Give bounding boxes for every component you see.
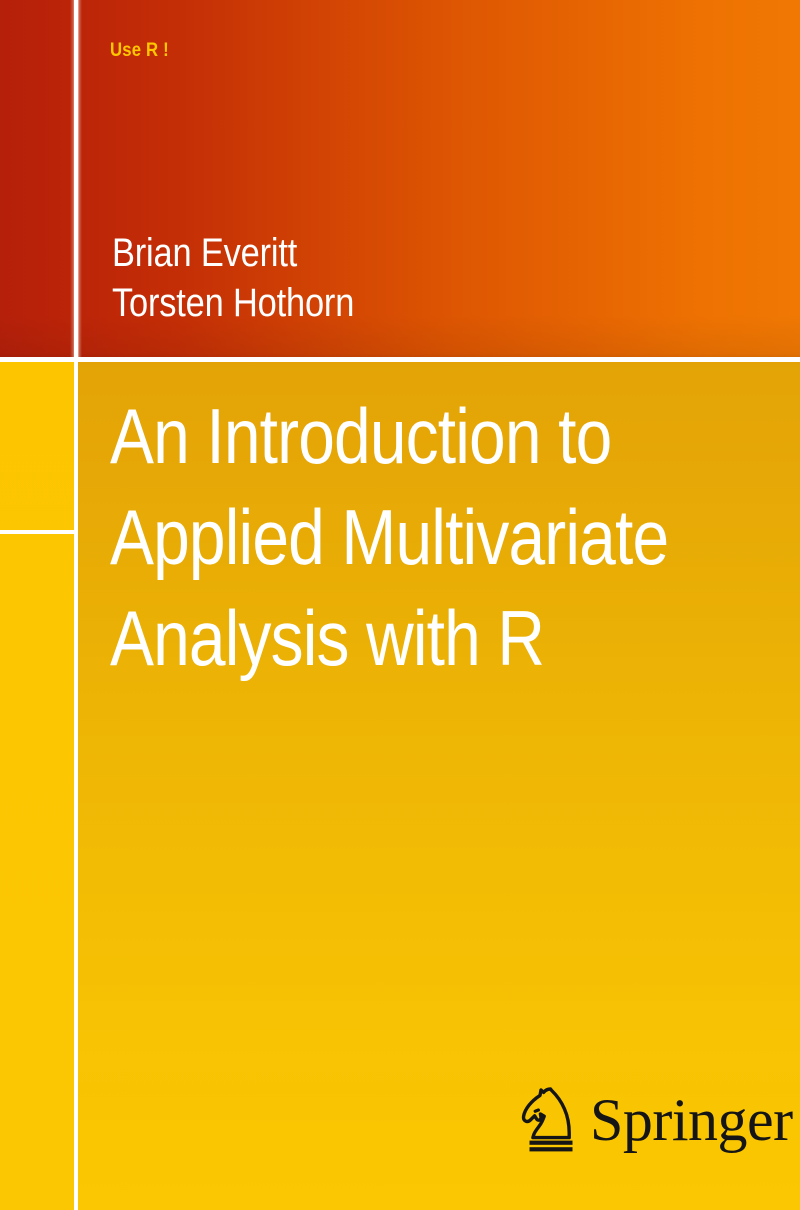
left-strip-divider-rule <box>0 530 74 534</box>
publisher-name: Springer <box>590 1090 793 1150</box>
title-line: Applied Multivariate <box>110 487 693 588</box>
title-line: An Introduction to <box>110 386 693 487</box>
series-label: Use R ! <box>110 40 169 62</box>
author-block: Brian Everitt Torsten Hothorn <box>112 228 752 328</box>
publisher-logo: Springer <box>520 1082 793 1158</box>
author-name: Torsten Hothorn <box>112 278 662 328</box>
author-name: Brian Everitt <box>112 228 662 278</box>
horizontal-divider-rule <box>0 357 800 362</box>
vertical-spine-rule <box>74 0 78 1210</box>
title-line: Analysis with R <box>110 588 693 689</box>
left-accent-strip <box>0 357 74 1210</box>
page-title: An Introduction to Applied Multivariate … <box>110 386 800 689</box>
book-cover: Use R ! Brian Everitt Torsten Hothorn An… <box>0 0 800 1210</box>
springer-knight-icon <box>520 1086 582 1154</box>
